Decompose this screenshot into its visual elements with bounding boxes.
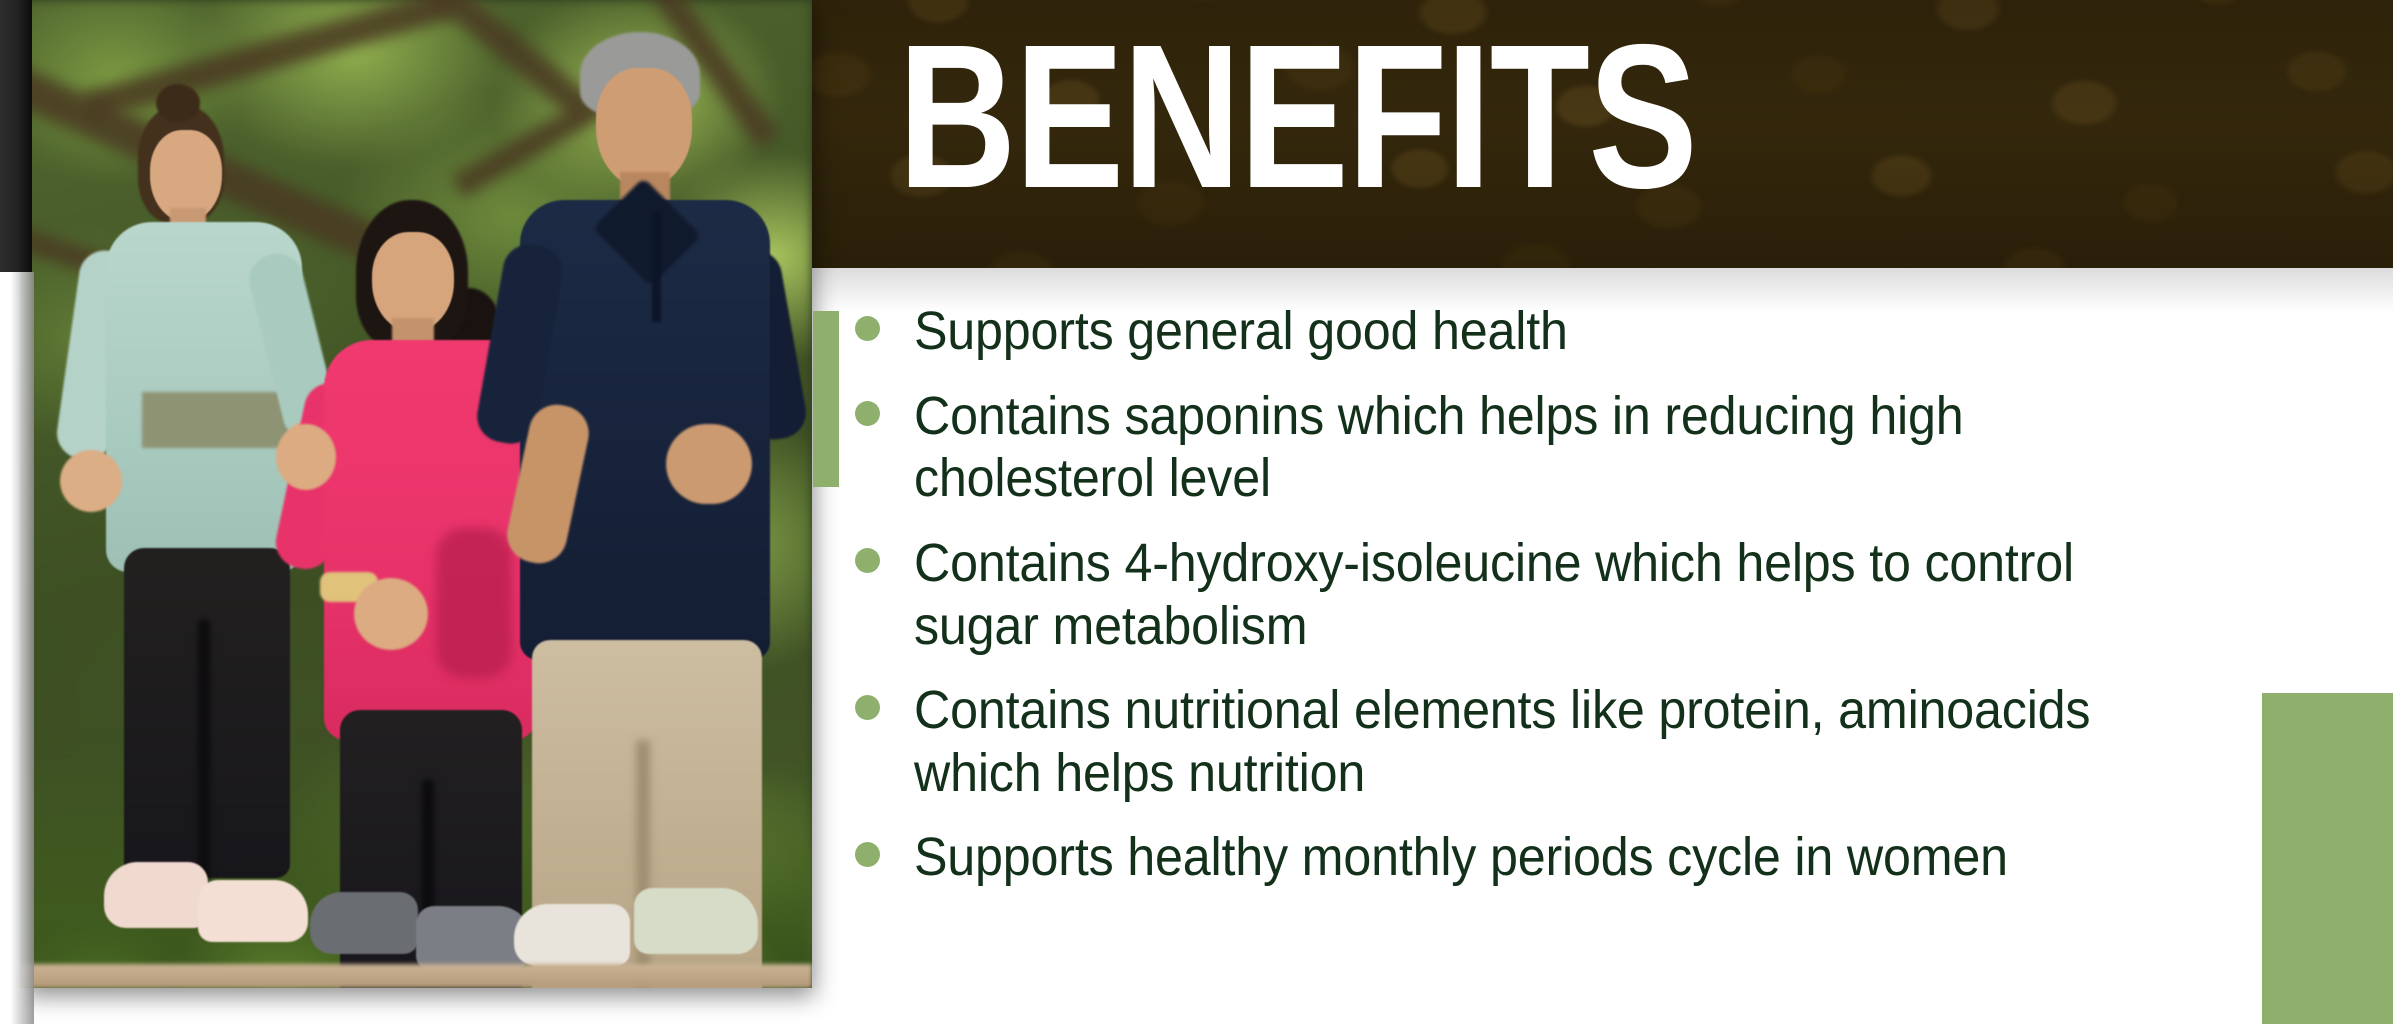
right-hand (354, 578, 428, 650)
benefits-slide: BENEFITS (0, 0, 2393, 1024)
right-shoe (634, 888, 758, 954)
benefits-list: Supports general good health Contains sa… (855, 300, 2265, 911)
left-edge-fade (0, 272, 34, 1024)
left-shoe (310, 892, 418, 954)
bullet-dot-icon (855, 548, 880, 573)
header-drop-shadow (812, 268, 2393, 312)
list-item: Supports healthy monthly periods cycle i… (855, 826, 2265, 889)
green-corner-block (2262, 693, 2393, 1024)
polo-placket (652, 212, 661, 322)
left-hand (276, 424, 336, 490)
right-hand (666, 424, 752, 504)
bullet-dot-icon (855, 316, 880, 341)
face (372, 232, 454, 332)
green-accent-bar (813, 311, 839, 487)
shirt-shadow (436, 528, 512, 678)
hair-bun (156, 84, 200, 122)
left-hand (60, 450, 122, 512)
right-shoe (198, 880, 308, 942)
face (596, 68, 692, 188)
left-shoe (104, 862, 208, 928)
left-dark-edge-strip (0, 0, 32, 272)
list-item: Contains saponins which helps in reducin… (855, 385, 2265, 510)
list-item: Contains nutritional elements like prote… (855, 679, 2265, 804)
bullet-dot-icon (855, 842, 880, 867)
park-pathway (20, 964, 812, 988)
family-jogging-photo (20, 0, 812, 988)
page-title: BENEFITS (898, 14, 1696, 219)
benefit-text: Contains nutritional elements like prote… (914, 679, 2170, 804)
list-item: Contains 4-hydroxy-isoleucine which help… (855, 532, 2265, 657)
benefit-text: Contains saponins which helps in reducin… (914, 385, 2170, 510)
bullet-dot-icon (855, 695, 880, 720)
left-shoe (514, 904, 630, 966)
benefit-text: Contains 4-hydroxy-isoleucine which help… (914, 532, 2170, 657)
leg-separation (198, 620, 210, 880)
benefit-text: Supports healthy monthly periods cycle i… (914, 826, 2170, 889)
bullet-dot-icon (855, 401, 880, 426)
